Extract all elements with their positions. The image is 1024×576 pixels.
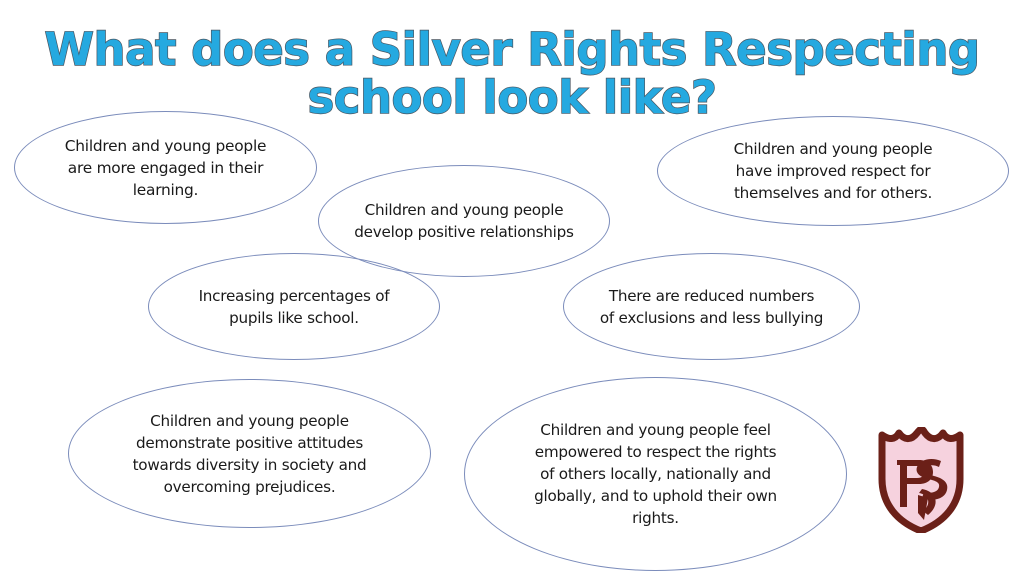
ellipse-text: Children and young people develop positi…: [348, 199, 579, 243]
ellipse-increasing-percentages: Increasing percentages of pupils like sc…: [148, 253, 440, 360]
ellipse-positive-attitudes-diversity: Children and young people demonstrate po…: [68, 379, 431, 528]
ellipse-text: There are reduced numbers of exclusions …: [594, 285, 829, 329]
page-title: What does a Silver Rights Respecting sch…: [0, 26, 1024, 122]
ellipse-text: Children and young people are more engag…: [59, 135, 272, 201]
ellipse-text: Children and young people demonstrate po…: [127, 410, 373, 498]
ellipse-text: Children and young people have improved …: [728, 138, 939, 204]
ellipse-text: Increasing percentages of pupils like sc…: [193, 285, 396, 329]
ellipse-engaged-in-learning: Children and young people are more engag…: [14, 111, 317, 224]
ellipse-text: Children and young people feel empowered…: [528, 419, 783, 529]
ellipse-improved-respect: Children and young people have improved …: [657, 116, 1009, 226]
slide-canvas: What does a Silver Rights Respecting sch…: [0, 0, 1024, 576]
ellipse-reduced-exclusions: There are reduced numbers of exclusions …: [563, 253, 860, 360]
school-crest-shield-icon: [878, 427, 964, 533]
ellipse-empowered-to-respect-rights: Children and young people feel empowered…: [464, 377, 847, 571]
